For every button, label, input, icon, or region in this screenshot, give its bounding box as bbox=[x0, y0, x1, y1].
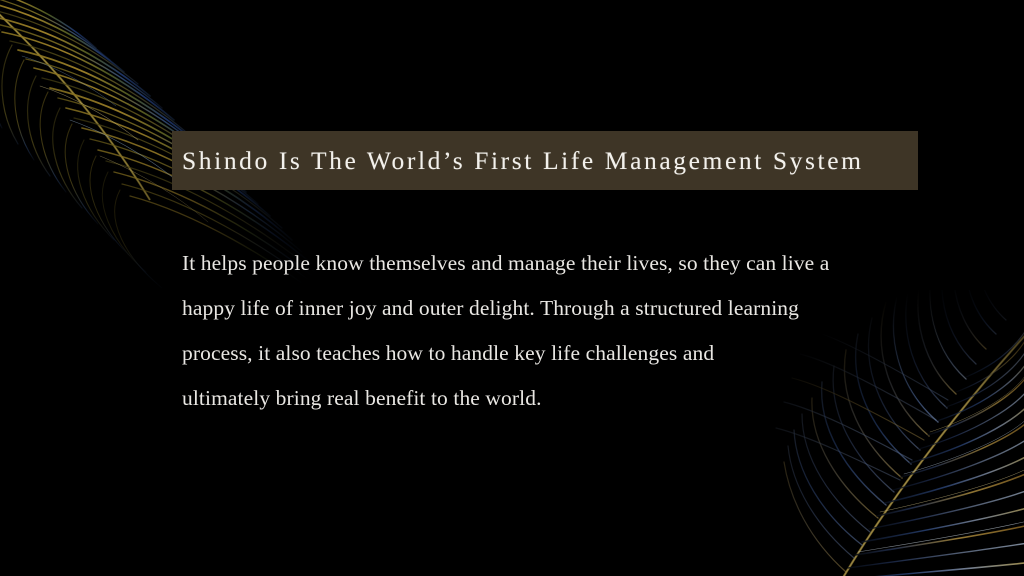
body-paragraph: It helps people know themselves and mana… bbox=[182, 241, 912, 421]
body-line: It helps people know themselves and mana… bbox=[182, 241, 912, 286]
body-line: ultimately bring real benefit to the wor… bbox=[182, 376, 912, 421]
body-line: happy life of inner joy and outer deligh… bbox=[182, 286, 912, 331]
title-banner: Shindo Is The World’s First Life Managem… bbox=[172, 131, 918, 190]
page-title: Shindo Is The World’s First Life Managem… bbox=[172, 148, 864, 174]
body-line: process, it also teaches how to handle k… bbox=[182, 331, 912, 376]
slide-canvas: Shindo Is The World’s First Life Managem… bbox=[0, 0, 1024, 576]
